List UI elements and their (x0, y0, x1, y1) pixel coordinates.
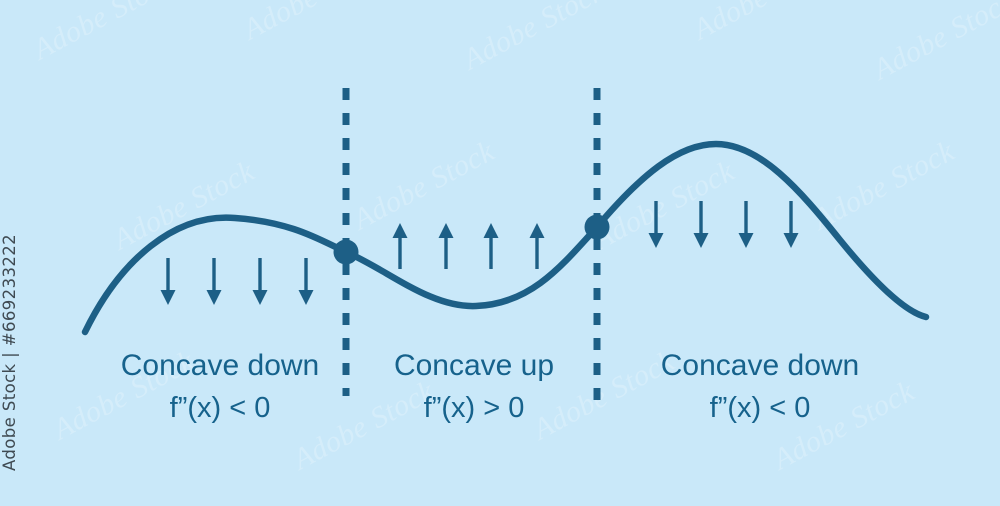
region-middle-label: Concave up (394, 349, 554, 382)
region-left-formula: f”(x) < 0 (170, 392, 271, 424)
second-inflection-point (585, 215, 610, 240)
region-middle-formula: f”(x) > 0 (424, 392, 525, 424)
region-right-label: Concave down (661, 349, 859, 382)
concavity-diagram: Adobe StockAdobe StockAdobe StockAdobe S… (0, 0, 1000, 506)
first-inflection-point (334, 240, 359, 265)
region-right-formula: f”(x) < 0 (710, 392, 811, 424)
region-left-label: Concave down (121, 349, 319, 382)
diagram-canvas: Adobe StockAdobe StockAdobe StockAdobe S… (0, 0, 1000, 506)
